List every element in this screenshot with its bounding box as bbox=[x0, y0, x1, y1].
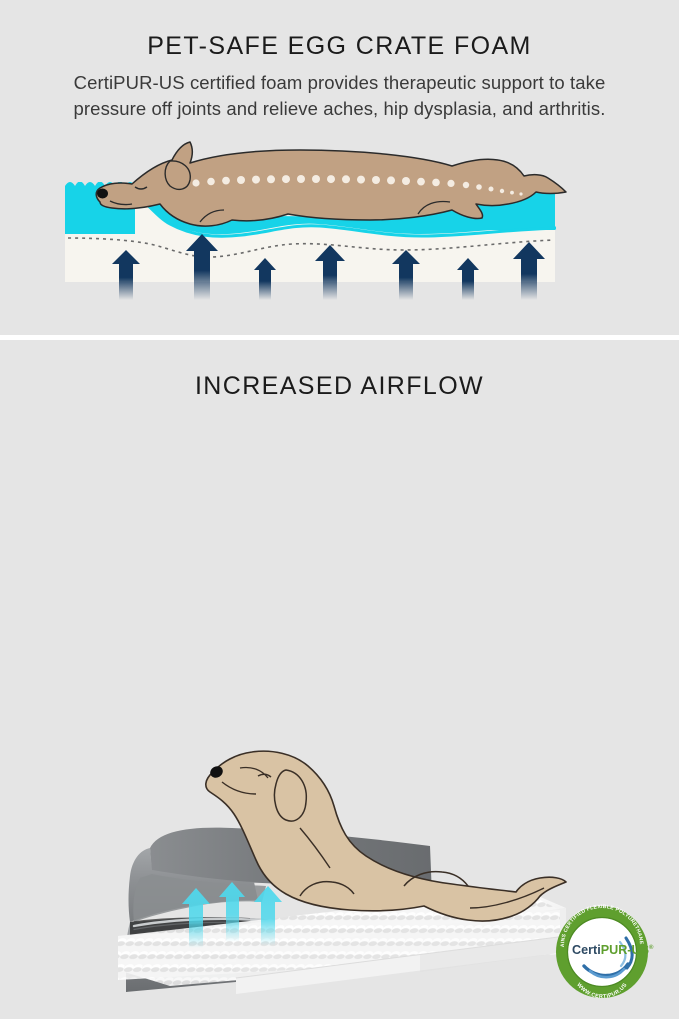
certipur-us-badge: CertiPUR-US® CONTAINS CERTIFIED FLEXIBLE… bbox=[556, 904, 654, 1000]
badge-registered-mark: ® bbox=[649, 944, 654, 951]
panel-increased-airflow: INCREASED AIRFLOW bbox=[0, 340, 679, 679]
panel-description-top: CertiPUR-US certified foam provides ther… bbox=[18, 70, 661, 123]
badge-center-text-certi: Certi bbox=[572, 943, 601, 957]
description-line-2: pressure off joints and relieve aches, h… bbox=[18, 96, 661, 122]
illustration-dog-on-foam-cross-section bbox=[0, 130, 679, 330]
description-line-1: CertiPUR-US certified foam provides ther… bbox=[18, 70, 661, 96]
infographic-page: PET-SAFE EGG CRATE FOAM CertiPUR-US cert… bbox=[0, 0, 679, 679]
page-title-pet-safe-egg-crate-foam: PET-SAFE EGG CRATE FOAM bbox=[0, 32, 679, 61]
panel-pet-safe-egg-crate-foam: PET-SAFE EGG CRATE FOAM CertiPUR-US cert… bbox=[0, 0, 679, 337]
page-title-increased-airflow: INCREASED AIRFLOW bbox=[0, 372, 679, 401]
dog-nose bbox=[97, 189, 108, 199]
airflow-arrows bbox=[182, 882, 282, 948]
illustration-dog-on-bolster-bed: CertiPUR-US® CONTAINS CERTIFIED FLEXIBLE… bbox=[0, 740, 679, 1019]
